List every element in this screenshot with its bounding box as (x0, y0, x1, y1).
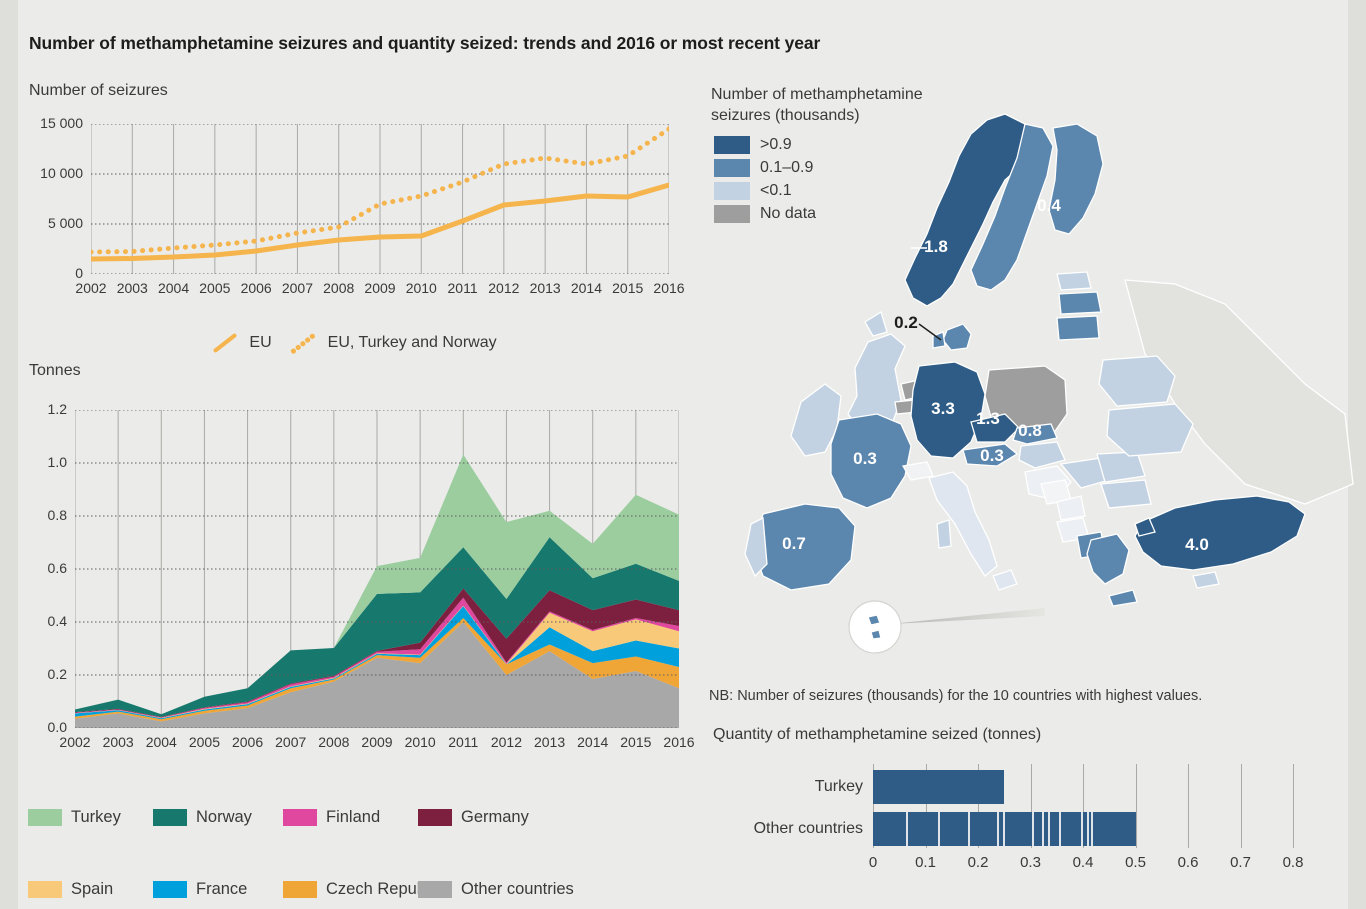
map-region-sicily[interactable] (993, 570, 1017, 590)
color-swatch-icon (28, 881, 62, 898)
area-legend-label: Norway (196, 808, 252, 827)
map-region-gozo-inset[interactable] (871, 630, 881, 639)
area-legend-item-germany[interactable]: Germany (418, 808, 529, 827)
map-region-lithuania[interactable] (1057, 316, 1099, 340)
area-legend-item-finland[interactable]: Finland (283, 808, 380, 827)
area-x-tick: 2006 (224, 734, 272, 750)
map-region-latvia[interactable] (1059, 292, 1101, 314)
map-region-malta-inset[interactable] (868, 615, 880, 625)
map-region-finland[interactable] (1049, 124, 1103, 234)
color-swatch-icon (418, 881, 452, 898)
area-x-tick: 2002 (51, 734, 99, 750)
map-value-label-norway: 1.8 (924, 237, 948, 256)
bar-segment-divider (968, 812, 970, 846)
area-legend-label: France (196, 880, 247, 899)
line-x-tick: 2016 (645, 280, 693, 296)
area-legend-label: Spain (71, 880, 113, 899)
bar-category-label: Other countries (713, 820, 863, 838)
area-legend-row: TurkeyNorwayFinlandGermany (28, 808, 668, 838)
map-value-label-denmark: 0.2 (894, 313, 918, 332)
area-x-tick: 2004 (137, 734, 185, 750)
area-y-tick: 0.0 (29, 719, 67, 735)
area-chart-plot (75, 410, 679, 728)
map-region-belarus[interactable] (1099, 356, 1175, 406)
area-x-tick: 2016 (655, 734, 703, 750)
map-value-label-turkey: 4.0 (1185, 535, 1209, 554)
area-y-tick: 1.2 (29, 401, 67, 417)
bar-segment-divider (1048, 812, 1050, 846)
bar-x-tick: 0.1 (906, 854, 946, 871)
area-x-tick: 2015 (612, 734, 660, 750)
area-x-tick: 2011 (439, 734, 487, 750)
color-swatch-icon (283, 881, 317, 898)
area-y-tick: 0.6 (29, 560, 67, 576)
bar-x-tick: 0.8 (1273, 854, 1313, 871)
map-value-label-finland: 0.4 (1037, 196, 1061, 215)
line-chart-legend: EU EU, Turkey and Norway (29, 325, 679, 361)
line-chart-plot (91, 124, 669, 274)
map-value-label-spain: 0.7 (782, 534, 806, 553)
map-region-estonia[interactable] (1057, 272, 1091, 290)
map-region-romania[interactable] (1097, 452, 1145, 482)
color-swatch-icon (28, 809, 62, 826)
map-region-switzerland[interactable] (903, 462, 933, 480)
bar-segment-divider (997, 812, 999, 846)
legend-item-eu: EU (211, 334, 271, 352)
left-edge-stripe (0, 0, 18, 909)
line-chart-svg (91, 124, 669, 274)
area-x-tick: 2013 (526, 734, 574, 750)
area-legend-label: Turkey (71, 808, 121, 827)
area-x-tick: 2003 (94, 734, 142, 750)
bar-chart-plot (873, 764, 1293, 848)
area-x-tick: 2008 (310, 734, 358, 750)
area-x-tick: 2009 (353, 734, 401, 750)
area-legend-label: Other countries (461, 880, 574, 899)
area-legend-item-spain[interactable]: Spain (28, 880, 113, 899)
map-region-denmark[interactable] (943, 324, 971, 350)
map-region-cyprus[interactable] (1193, 572, 1219, 588)
map-region-turkey[interactable] (1135, 496, 1305, 570)
area-chart-legend: TurkeyNorwayFinlandGermanySpainFranceCze… (28, 808, 668, 892)
map-region-greece[interactable] (1087, 534, 1129, 584)
line-y-tick: 10 000 (29, 165, 83, 181)
color-swatch-icon (153, 809, 187, 826)
map-region-sardinia[interactable] (937, 520, 951, 548)
bar-segment-divider (938, 812, 940, 846)
bar-gridline (1241, 764, 1242, 848)
bar-segment-divider (1059, 812, 1061, 846)
area-chart-axis-title: Tonnes (29, 362, 81, 380)
line-chart-panel: Number of seizures 05 00010 00015 000200… (29, 82, 679, 312)
bar-gridline (1188, 764, 1189, 848)
solid-line-icon (213, 333, 238, 353)
map-region-bulgaria[interactable] (1101, 480, 1151, 508)
map-region-crete[interactable] (1109, 590, 1137, 606)
bar-segment-divider (906, 812, 908, 846)
area-chart-svg (75, 410, 679, 728)
bar-chart-panel: Quantity of methamphetamine seized (tonn… (709, 726, 1354, 886)
legend-item-eu-turkey-norway: EU, Turkey and Norway (288, 334, 497, 352)
map-region-ukraine[interactable] (1107, 404, 1193, 456)
area-x-tick: 2005 (180, 734, 228, 750)
area-y-tick: 0.8 (29, 507, 67, 523)
bar-x-tick: 0.6 (1168, 854, 1208, 871)
bar-x-tick: 0.5 (1116, 854, 1156, 871)
europe-choropleth-map: 1.80.40.23.31.30.80.30.30.74.0 (705, 84, 1355, 674)
map-leader-line-denmark (919, 324, 941, 340)
bar-x-tick: 0.4 (1063, 854, 1103, 871)
map-region-scotland-north[interactable] (865, 312, 887, 336)
area-x-tick: 2010 (396, 734, 444, 750)
area-legend-item-france[interactable]: France (153, 880, 247, 899)
map-region-portugal[interactable] (745, 518, 767, 576)
area-legend-item-turkey[interactable]: Turkey (28, 808, 121, 827)
area-legend-label: Germany (461, 808, 529, 827)
line-y-tick: 0 (29, 265, 83, 281)
bar-x-tick: 0.2 (958, 854, 998, 871)
bar-x-tick: 0.7 (1221, 854, 1261, 871)
map-magnifier-inset[interactable] (849, 601, 901, 653)
area-legend-row: SpainFranceCzech RepublicOther countries (28, 850, 668, 880)
color-swatch-icon (283, 809, 317, 826)
area-chart-panel: Tonnes 0.00.20.40.60.81.01.2200220032004… (29, 362, 679, 792)
color-swatch-icon (153, 881, 187, 898)
line-y-tick: 15 000 (29, 115, 83, 131)
map-panel: Number of methamphetamine seizures (thou… (705, 84, 1355, 674)
map-value-label-germany: 3.3 (931, 399, 955, 418)
bar-category-label: Turkey (713, 778, 863, 796)
bar-segment-divider (1003, 812, 1005, 846)
line-y-tick: 5 000 (29, 215, 83, 231)
area-legend-item-other-countries[interactable]: Other countries (418, 880, 574, 899)
map-value-label-slovakia: 0.8 (1018, 421, 1042, 440)
bar-segment-divider (1081, 812, 1083, 846)
map-value-label-austria: 0.3 (980, 446, 1004, 465)
area-legend-label: Finland (326, 808, 380, 827)
map-region-hungary[interactable] (1019, 442, 1065, 468)
bar-segment-divider (1042, 812, 1044, 846)
map-value-label-france: 0.3 (853, 449, 877, 468)
map-region-jutland[interactable] (933, 332, 945, 348)
line-chart-axis-title: Number of seizures (29, 82, 168, 100)
area-legend-item-norway[interactable]: Norway (153, 808, 252, 827)
area-x-tick: 2012 (482, 734, 530, 750)
bar-x-tick: 0.3 (1011, 854, 1051, 871)
bar-chart-title: Quantity of methamphetamine seized (tonn… (713, 726, 1041, 744)
bar-x-tick: 0 (853, 854, 893, 871)
area-y-tick: 0.4 (29, 613, 67, 629)
bar-gridline (1136, 764, 1137, 848)
bar-segment-divider (1091, 812, 1093, 846)
dotted-line-icon (286, 327, 319, 358)
legend-label-eu: EU (249, 334, 271, 352)
area-y-tick: 0.2 (29, 666, 67, 682)
map-value-label-czech-republic: 1.3 (976, 409, 1000, 428)
area-x-tick: 2007 (267, 734, 315, 750)
legend-label-eu-turkey-norway: EU, Turkey and Norway (328, 334, 497, 352)
area-x-tick: 2014 (569, 734, 617, 750)
map-note: NB: Number of seizures (thousands) for t… (709, 688, 1202, 704)
area-y-tick: 1.0 (29, 454, 67, 470)
color-swatch-icon (418, 809, 452, 826)
bar-gridline (1293, 764, 1294, 848)
bar-segment-divider (1032, 812, 1034, 846)
bar-other-countries[interactable] (873, 812, 1136, 846)
bar-segment-divider (1087, 812, 1089, 846)
page-title: Number of methamphetamine seizures and q… (29, 33, 820, 54)
bar-turkey[interactable] (873, 770, 1004, 804)
